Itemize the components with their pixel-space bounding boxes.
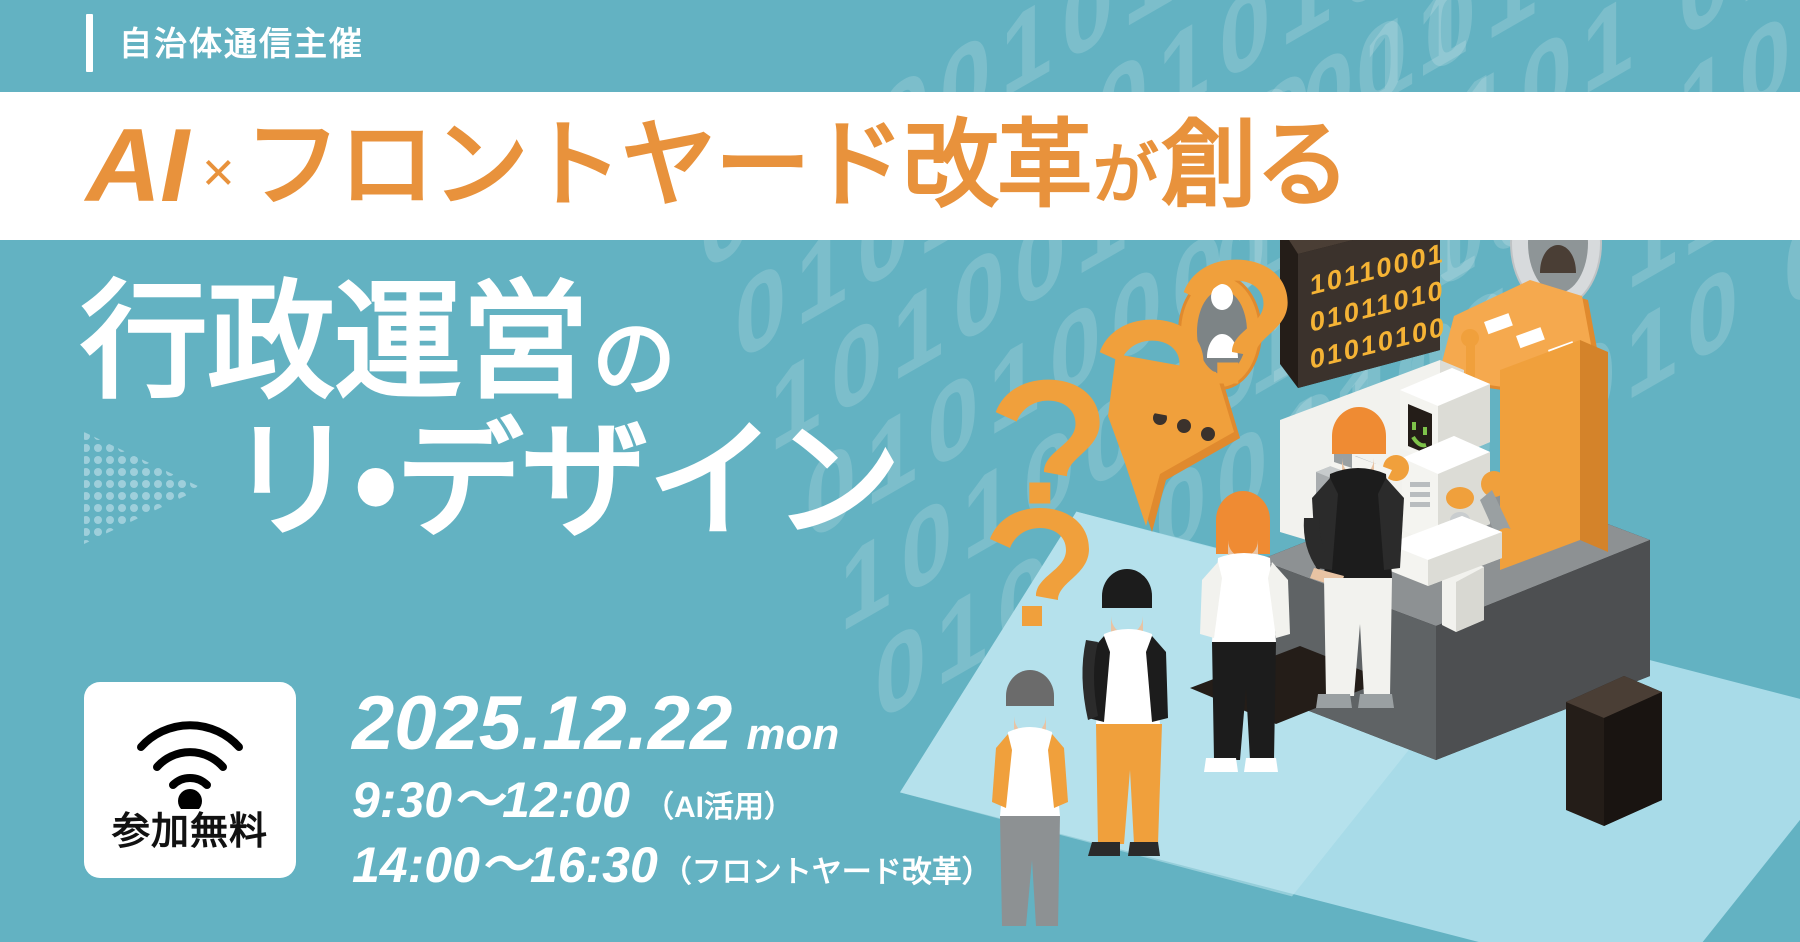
question-mark-icon [990,508,1089,626]
session-time: 14:00〜16:30 [352,839,658,892]
headline-secondary-line1: 行政運営 の [80,278,900,409]
headline-secondary-line2: リ・デザイン [80,417,900,548]
illustration-scene: 10110001 01011010 01010100 [880,120,1800,942]
session-topic: （AI活用） [644,793,794,823]
top-bar: 自治体通信主催 [0,0,1800,92]
headline-ai-text: AI [86,114,188,218]
event-date-row: 2025.12.22 mon [352,686,992,762]
session-row: 9:30〜12:00 （AI活用） [352,774,992,827]
session-time: 9:30〜12:00 [352,774,630,827]
headline-secondary: 行政運営 の [80,278,900,547]
event-banner: 01100101 0110 010110010101 101001010 01 … [0,0,1800,942]
free-participation-badge: 参加無料 [84,682,296,878]
person-icon [992,670,1068,926]
headline-particle: が [1093,141,1159,207]
headline-main-text: フロントヤード改革 [245,118,1091,214]
event-date: 2025.12.22 [352,686,732,762]
person-icon [1200,491,1290,772]
host-line: 自治体通信主催 [86,14,364,72]
schedule-block: 2025.12.22 mon 9:30〜12:00 （AI活用） 14:00〜1… [352,686,992,891]
host-label: 自治体通信主催 [119,27,364,60]
headline-verb-text: 創る [1161,118,1349,214]
question-mark-icon [996,380,1100,504]
headline-primary: AI × フロントヤード改革 が 創る [86,94,1349,238]
session-row: 14:00〜16:30 （フロントヤード改革） [352,839,992,892]
wifi-icon [131,713,249,809]
event-day-of-week: mon [746,713,839,757]
headline-secondary-main: 行政運営 [80,278,588,409]
person-icon [1082,569,1168,856]
session-topic: （フロントヤード改革） [662,858,992,888]
headline-secondary-particle: の [592,317,675,403]
free-participation-label: 参加無料 [112,813,268,851]
headline-cross-icon: × [202,144,235,200]
dotted-play-triangle-icon [80,430,206,546]
headline-secondary-line2-text: リ・デザイン [228,417,900,548]
vertical-rule-icon [86,14,93,72]
